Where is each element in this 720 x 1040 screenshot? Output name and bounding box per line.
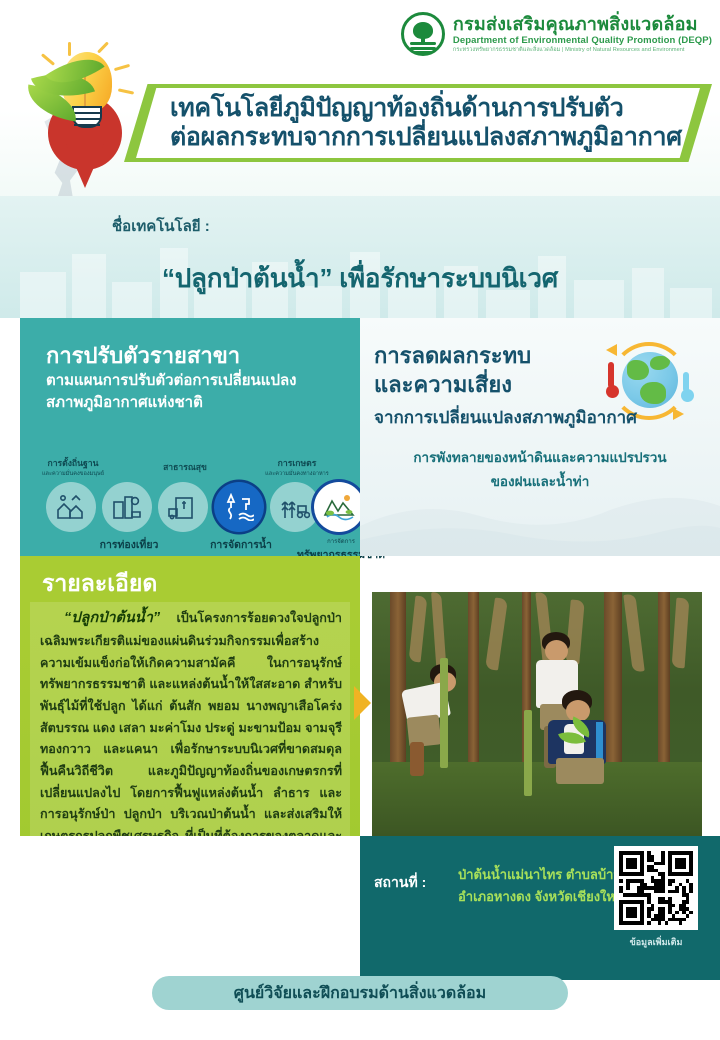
tourism-icon (102, 482, 152, 532)
mitigation-body: การพังทลายของหน้าดินและความแปรปรวน ของฝน… (370, 446, 710, 493)
technology-name: “ปลูกป่าต้นน้ำ” เพื่อรักษาระบบนิเวศ (0, 258, 720, 299)
org-name-en: Department of Environmental Quality Prom… (453, 36, 712, 46)
students-planting-trees-photo (372, 592, 702, 836)
org-ministry: กระทรวงทรัพยากรธรรมชาติและสิ่งแวดล้อม | … (453, 48, 712, 54)
adaptation-subheading: ตามแผนการปรับตัวต่อการเปลี่ยนแปลง สภาพภู… (46, 370, 346, 414)
qr-caption: ข้อมูลเพิ่มเติม (614, 935, 698, 949)
mitigation-panel: การลดผลกระทบ และความเสี่ยง จากการเปลี่ยน… (360, 318, 720, 556)
deqp-seal-icon (401, 12, 445, 56)
location-label: สถานที่ : (374, 872, 426, 894)
water-management-icon (214, 482, 264, 532)
title-banner: เทคโนโลยีภูมิปัญญาท้องถิ่นด้านการปรับตัว… (124, 84, 712, 162)
technology-label: ชื่อเทคโนโลยี : (112, 214, 210, 238)
sector-tourism[interactable]: การท่องเที่ยว (102, 482, 156, 532)
arrow-marker-icon (354, 686, 371, 720)
mitigation-heading: การลดผลกระทบ และความเสี่ยง (374, 342, 531, 399)
details-highlight: “ปลูกป่าต้นน้ำ” (64, 610, 160, 626)
footer-pill: ศูนย์วิจัยและฝึกอบรมด้านสิ่งแวดล้อม (152, 976, 568, 1010)
sector-health[interactable]: สาธารณสุข (158, 482, 212, 532)
deqp-logo: กรมส่งเสริมคุณภาพสิ่งแวดล้อม Department … (401, 12, 712, 56)
title-line-1: เทคโนโลยีภูมิปัญญาท้องถิ่นด้านการปรับตัว (170, 94, 700, 124)
agriculture-icon (270, 482, 320, 532)
location-bar: สถานที่ : ป่าต้นน้ำแม่นาไทร ตำบลบ้านปง อ… (360, 836, 720, 980)
hot-thermometer-icon (606, 362, 615, 398)
footer-text: ศูนย์วิจัยและฝึกอบรมด้านสิ่งแวดล้อม (234, 981, 486, 1006)
child-front (542, 690, 628, 800)
sector-icon-row: การตั้งถิ่นฐาน และความมั่นคงของมนุษย์ (28, 456, 358, 552)
poster-root: กรมส่งเสริมคุณภาพสิ่งแวดล้อม Department … (0, 0, 720, 1040)
sector-water-management[interactable]: การจัดการน้ำ (214, 482, 268, 532)
technology-band (0, 196, 720, 318)
natural-resources-icon (314, 482, 364, 532)
settlement-icon (46, 482, 96, 532)
lightbulb-leaf-pin-icon (22, 48, 140, 198)
adaptation-heading: การปรับตัวรายสาขา (46, 338, 240, 373)
sector-settlement[interactable]: การตั้งถิ่นฐาน และความมั่นคงของมนุษย์ (46, 482, 100, 532)
health-icon (158, 482, 208, 532)
location-value: ป่าต้นน้ำแม่นาไทร ตำบลบ้านปง อำเภอหางดง … (458, 864, 638, 908)
qr-code[interactable] (614, 846, 698, 930)
child-left (396, 664, 466, 794)
cold-thermometer-icon (681, 372, 690, 402)
title-line-2: ต่อผลกระทบจากการเปลี่ยนแปลงสภาพภูมิอากาศ (170, 123, 700, 153)
mitigation-subheading: จากการเปลี่ยนแปลงสภาพภูมิอากาศ (374, 404, 637, 431)
org-name-th: กรมส่งเสริมคุณภาพสิ่งแวดล้อม (453, 15, 712, 34)
adaptation-panel: การปรับตัวรายสาขา ตามแผนการปรับตัวต่อการ… (20, 318, 360, 556)
qr-code-image (619, 851, 693, 925)
details-heading: รายละเอียด (42, 566, 157, 602)
